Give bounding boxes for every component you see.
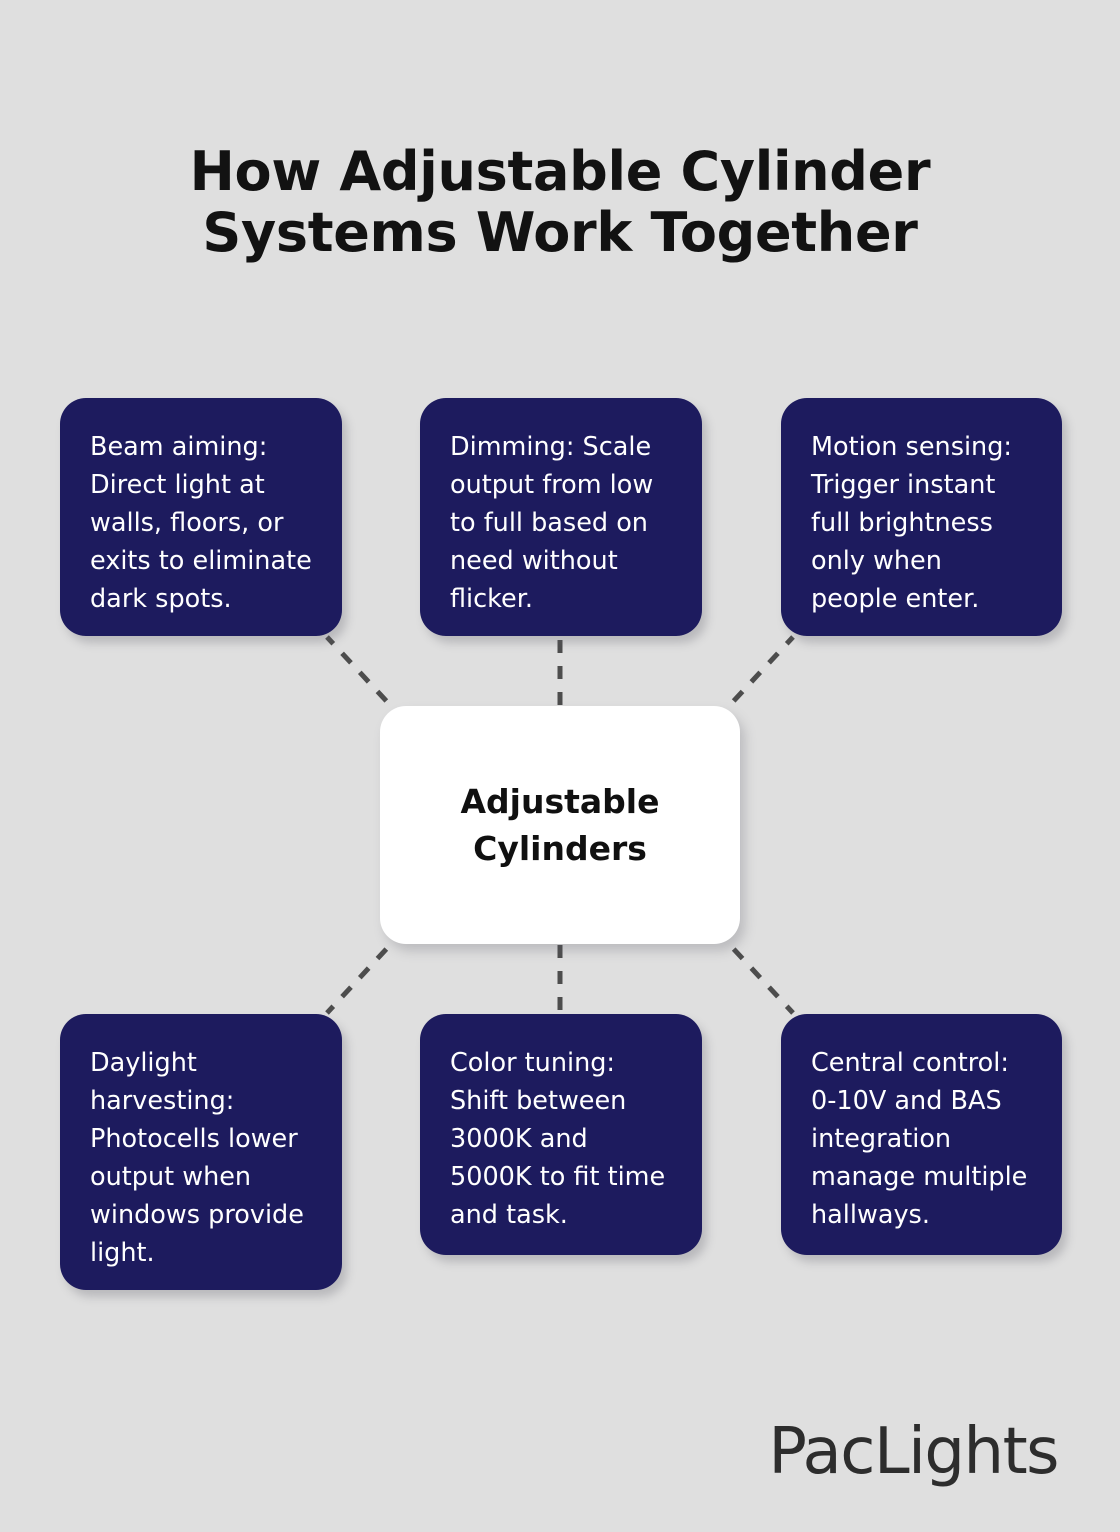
connector-center-to-motion-sensing (716, 637, 793, 720)
node-dimming[interactable]: Dimming: Scale output from low to full b… (420, 398, 702, 636)
brand-logo: PacLights (768, 1420, 1058, 1484)
node-color-tuning-label: Color tuning: Shift between 3000K and 50… (450, 1044, 674, 1234)
node-central-control[interactable]: Central control: 0-10V and BAS integrati… (781, 1014, 1062, 1255)
node-daylight-harvesting-label: Daylight harvesting: Photocells lower ou… (90, 1044, 314, 1272)
connector-center-to-central-control (716, 930, 793, 1013)
page-title: How Adjustable Cylinder Systems Work Tog… (90, 141, 1030, 263)
node-daylight-harvesting[interactable]: Daylight harvesting: Photocells lower ou… (60, 1014, 342, 1290)
infographic-canvas: How Adjustable Cylinder Systems Work Tog… (0, 0, 1120, 1532)
node-dimming-label: Dimming: Scale output from low to full b… (450, 428, 674, 618)
node-beam-aiming[interactable]: Beam aiming: Direct light at walls, floo… (60, 398, 342, 636)
node-beam-aiming-label: Beam aiming: Direct light at walls, floo… (90, 428, 314, 618)
node-motion-sensing-label: Motion sensing: Trigger instant full bri… (811, 428, 1034, 618)
node-center-hub[interactable]: Adjustable Cylinders (380, 706, 740, 944)
node-motion-sensing[interactable]: Motion sensing: Trigger instant full bri… (781, 398, 1062, 636)
connector-center-to-beam-aiming (327, 637, 404, 720)
node-central-control-label: Central control: 0-10V and BAS integrati… (811, 1044, 1034, 1234)
connector-center-to-daylight-harvesting (327, 930, 404, 1013)
node-color-tuning[interactable]: Color tuning: Shift between 3000K and 50… (420, 1014, 702, 1255)
node-center-hub-label: Adjustable Cylinders (414, 778, 706, 872)
